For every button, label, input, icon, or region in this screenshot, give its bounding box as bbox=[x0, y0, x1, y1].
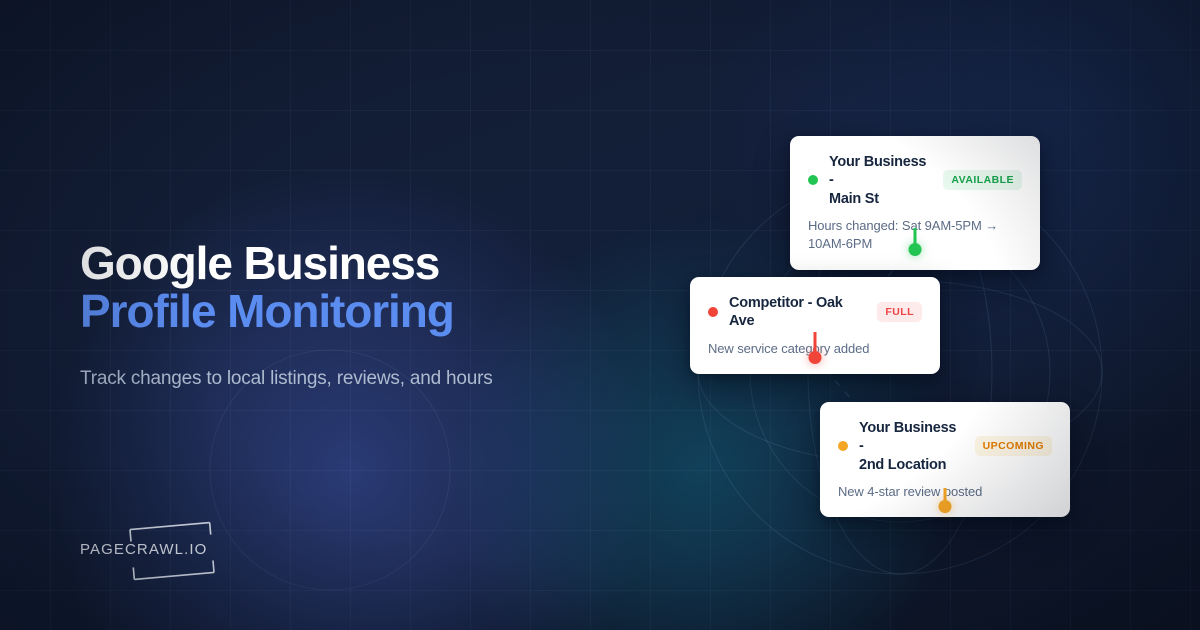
hero-text-block: Google Business Profile Monitoring Track… bbox=[80, 240, 640, 390]
card-title: Your Business - Main St bbox=[829, 153, 932, 208]
hero-subtitle: Track changes to local listings, reviews… bbox=[80, 368, 640, 390]
status-dot-red bbox=[708, 307, 718, 317]
card-header: Your Business - Main St AVAILABLE bbox=[808, 153, 1022, 208]
card-header: Competitor - Oak Ave FULL bbox=[708, 294, 922, 331]
page-title: Google Business Profile Monitoring bbox=[80, 240, 640, 336]
logo-wordmark: PAGECRAWL.IO bbox=[80, 541, 207, 558]
pin-head bbox=[938, 500, 951, 513]
card-title: Your Business - 2nd Location bbox=[859, 419, 964, 474]
card-title: Competitor - Oak Ave bbox=[729, 294, 866, 331]
headline-line-1: Google Business bbox=[80, 240, 640, 288]
status-dot-green bbox=[808, 175, 818, 185]
headline-line-2: Profile Monitoring bbox=[80, 288, 640, 336]
pin-head bbox=[808, 351, 821, 364]
brand-logo: PAGECRAWL.IO bbox=[80, 520, 260, 582]
pin-head bbox=[908, 243, 921, 256]
card-header: Your Business - 2nd Location UPCOMING bbox=[838, 419, 1052, 474]
hero-banner: Google Business Profile Monitoring Track… bbox=[0, 0, 1200, 630]
map-pin-oak-ave[interactable] bbox=[808, 332, 821, 364]
status-dot-orange bbox=[838, 441, 848, 451]
map-pin-main-st[interactable] bbox=[908, 228, 921, 256]
status-badge: UPCOMING bbox=[975, 436, 1052, 456]
map-pin-2nd-location[interactable] bbox=[938, 488, 951, 513]
status-badge: FULL bbox=[877, 302, 922, 322]
status-badge: AVAILABLE bbox=[943, 170, 1022, 190]
